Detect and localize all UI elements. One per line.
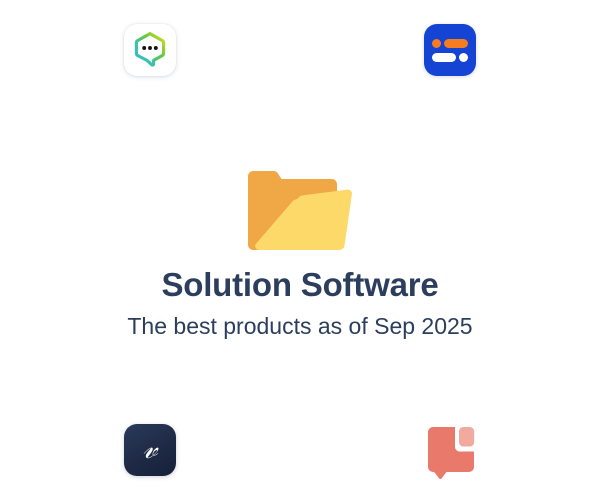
script-v-icon[interactable]: 𝓋: [124, 424, 176, 476]
bars-group: [424, 24, 476, 76]
blue-list-bars-icon[interactable]: [424, 24, 476, 76]
page-root: Solution Software The best products as o…: [0, 0, 600, 500]
white-bar: [432, 53, 456, 62]
salmon-chat-bubble-glyph: [424, 424, 478, 480]
open-folder-glyph: [244, 162, 356, 254]
chat-hexagon-glyph: [131, 31, 169, 69]
open-folder-icon: [244, 162, 356, 254]
page-subtitle: The best products as of Sep 2025: [0, 311, 600, 341]
bars-row-top: [432, 39, 468, 48]
page-title: Solution Software: [0, 265, 600, 305]
chat-hexagon-icon[interactable]: [124, 24, 176, 76]
script-v-glyph: 𝓋: [124, 424, 176, 476]
white-dot: [459, 53, 468, 62]
bars-row-bottom: [432, 53, 468, 62]
orange-bar: [444, 39, 468, 48]
salmon-chat-bubble-icon[interactable]: [424, 424, 478, 480]
orange-dot: [432, 39, 441, 48]
